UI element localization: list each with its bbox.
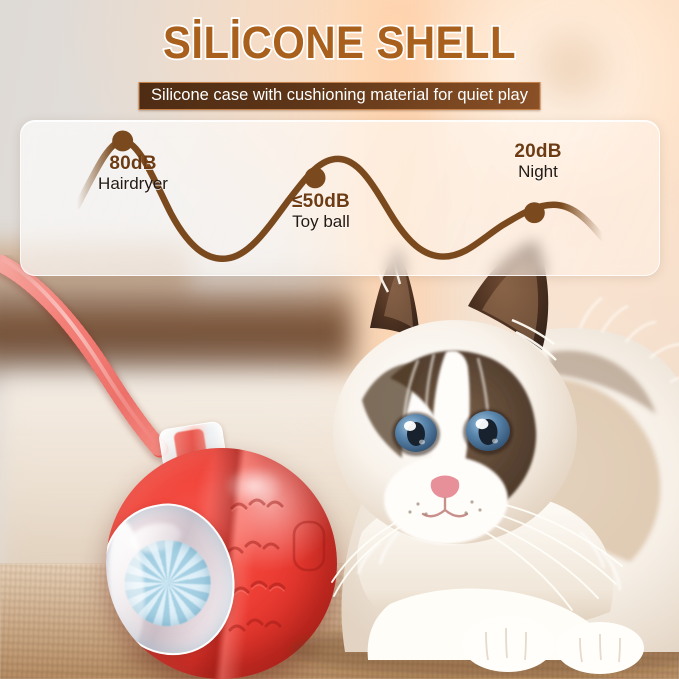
wave-dot-hairdryer: [112, 130, 133, 151]
noise-name-night: Night: [479, 162, 597, 182]
noise-label-hairdryer: 80dB Hairdryer: [73, 153, 193, 194]
noise-db-night: 20dB: [479, 141, 597, 162]
noise-label-night: 20dB Night: [479, 141, 597, 182]
wave-dot-night: [524, 202, 545, 223]
product-feature-image: SİLİCONE SHELL Silicone case with cushio…: [0, 0, 679, 679]
subtitle-banner: Silicone case with cushioning material f…: [138, 82, 541, 110]
page-title: SİLİCONE SHELL: [24, 18, 655, 68]
noise-comparison-panel: 80dB Hairdryer ≤50dB Toy ball 20dB Night: [20, 120, 660, 276]
cat-paw-left: [462, 616, 554, 672]
noise-db-toyball: ≤50dB: [261, 191, 381, 212]
noise-name-hairdryer: Hairdryer: [73, 174, 193, 194]
cat-eye-right: [463, 409, 513, 455]
cat-paw-right: [556, 622, 644, 674]
noise-db-hairdryer: 80dB: [73, 153, 193, 174]
noise-name-toyball: Toy ball: [261, 212, 381, 232]
cat-eye-left: [392, 412, 440, 456]
wave-dot-toyball: [305, 167, 326, 188]
noise-label-toyball: ≤50dB Toy ball: [261, 191, 381, 232]
ragdoll-cat: [250, 232, 679, 679]
